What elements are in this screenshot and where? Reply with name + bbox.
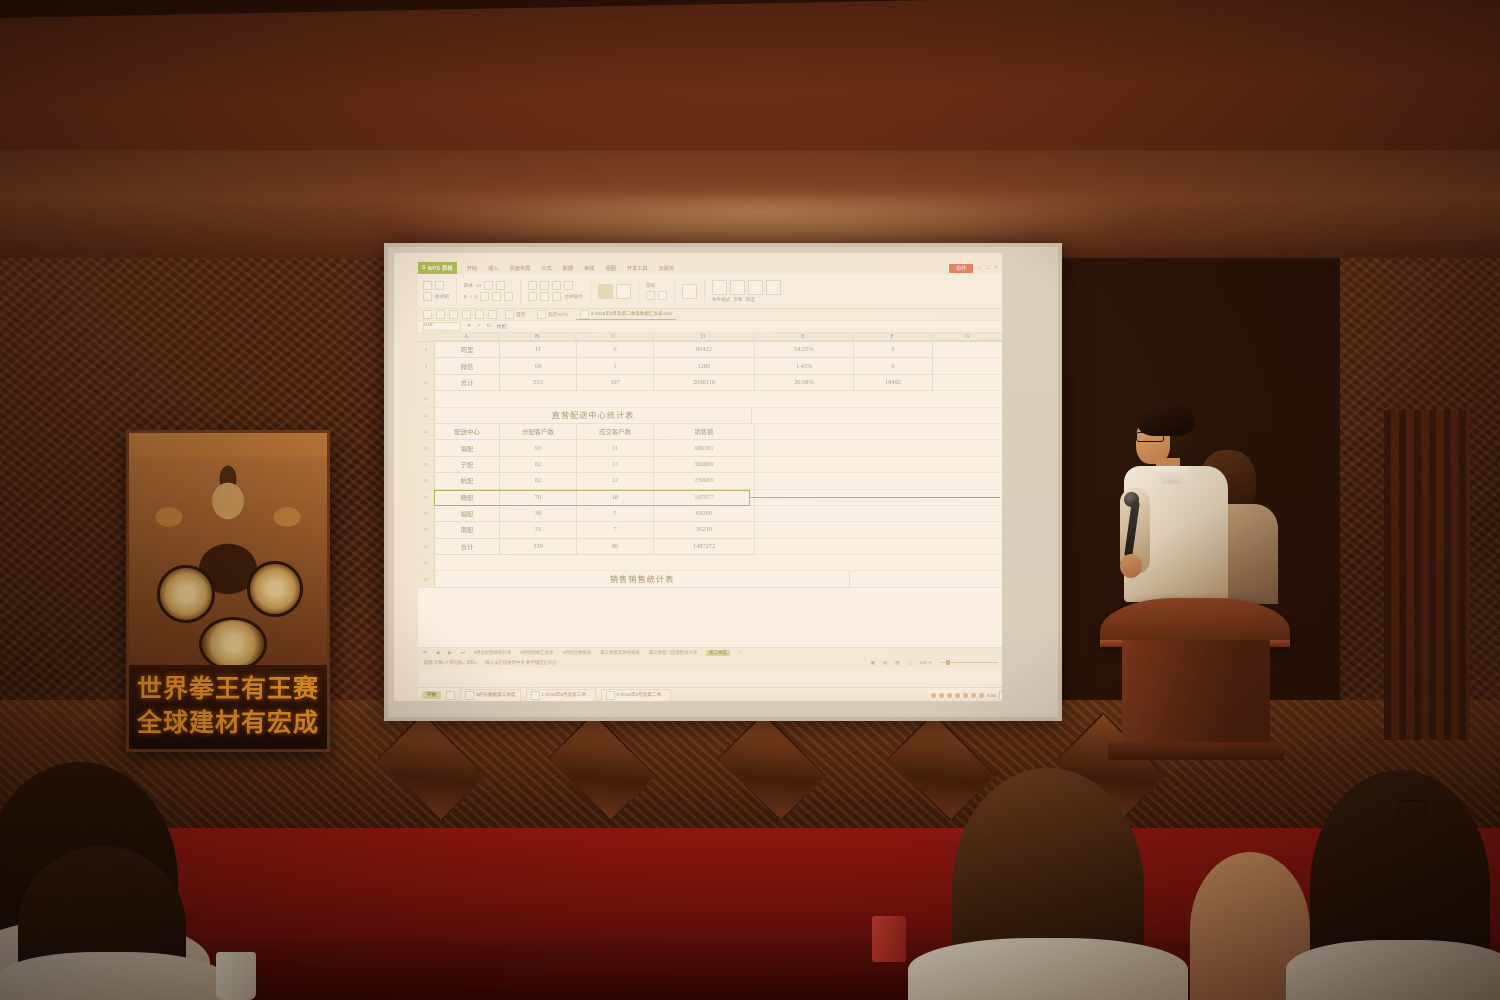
start-button[interactable]: 开始 xyxy=(422,691,441,699)
championship-belt-icon xyxy=(199,617,267,671)
table-cell[interactable]: 13 xyxy=(577,457,654,473)
empty-cell[interactable] xyxy=(499,555,575,571)
row-header[interactable]: 11 xyxy=(418,391,435,407)
selection-extension-line xyxy=(750,497,1000,498)
view-reading-icon[interactable]: ▢ xyxy=(907,660,911,666)
table-cell[interactable]: 宁配 xyxy=(435,457,500,473)
empty-cell[interactable] xyxy=(651,555,751,571)
zoom-slider[interactable] xyxy=(940,662,998,663)
presenter-hand xyxy=(1120,554,1142,578)
spreadsheet-grid[interactable]: 8阿里1168942254.55%09微信69112801.45%010总计53… xyxy=(418,342,1002,647)
ribbon-divider xyxy=(520,278,521,304)
show-desktop-icon[interactable] xyxy=(999,691,1002,700)
merge-center-button[interactable]: 合并居中 xyxy=(564,294,582,300)
column-header-a[interactable]: A xyxy=(434,333,499,341)
font-size-select[interactable]: 14 xyxy=(476,283,481,288)
window-titlebar: S WPS 表格 开始 插入 页面布局 公式 数据 审阅 视图 开发工具 云服务… xyxy=(418,262,1002,274)
empty-cell[interactable] xyxy=(853,457,931,473)
table-cell[interactable]: 107 xyxy=(577,375,654,391)
empty-cell[interactable] xyxy=(853,473,931,489)
table-row[interactable]: 22销售销售统计表 xyxy=(418,571,1002,587)
table-cell[interactable]: 39 xyxy=(500,506,577,522)
wps-logo: S WPS 表格 xyxy=(418,262,457,274)
table-cell[interactable]: 82 xyxy=(500,457,577,473)
empty-cell[interactable] xyxy=(575,555,651,571)
championship-belt-icon xyxy=(157,565,215,623)
tab-review[interactable]: 审阅 xyxy=(584,265,594,272)
projection-screen: S WPS 表格 开始 插入 页面布局 公式 数据 审阅 视图 开发工具 云服务… xyxy=(394,253,1002,701)
font-name-select[interactable]: 宋体 xyxy=(464,283,473,289)
align-bottom-icon[interactable] xyxy=(552,281,561,290)
taskbar-window-1-label: 1-2018年9月及第三季… xyxy=(542,692,591,698)
table-cell[interactable]: 总计 xyxy=(435,375,500,391)
font-color-icon[interactable] xyxy=(504,292,513,301)
battery-icon[interactable] xyxy=(963,693,968,698)
empty-cell[interactable] xyxy=(933,342,1002,358)
empty-cell[interactable] xyxy=(853,539,931,555)
ribbon-toolbar[interactable]: 格式刷 宋体 14 B I U xyxy=(418,274,1002,309)
table-cell[interactable]: 1487272 xyxy=(654,539,755,555)
table-cell[interactable]: 11 xyxy=(500,342,577,358)
save-icon[interactable] xyxy=(449,310,458,319)
table-cell[interactable]: 82 xyxy=(500,473,577,489)
system-tray[interactable]: 6:58 xyxy=(931,691,1002,700)
table-cell[interactable]: 配送中心 xyxy=(435,424,500,440)
empty-cell[interactable] xyxy=(751,391,849,407)
doc-tab-docer-label: 稻壳WPS xyxy=(548,312,568,318)
empty-cell[interactable] xyxy=(931,539,1002,555)
row-header[interactable]: 22 xyxy=(418,571,435,587)
sheet-tab-1[interactable]: 9月经销商汇总表 xyxy=(520,650,553,656)
podium-top xyxy=(1100,598,1290,646)
undo-icon[interactable] xyxy=(475,310,484,319)
border-icon[interactable] xyxy=(480,292,489,301)
row-header[interactable]: 13 xyxy=(418,424,435,440)
section-title-cell[interactable]: 直营配送中心统计表 xyxy=(435,408,752,424)
empty-cell[interactable] xyxy=(651,391,751,407)
table-row[interactable]: 10总计533107209811820.08%18492 xyxy=(418,375,1002,391)
table-cell[interactable]: 339 xyxy=(500,539,577,555)
ribbon-divider xyxy=(704,278,705,304)
status-ime-text: 输入法已切换到中文 数字键区已开启 xyxy=(485,660,556,666)
empty-cell[interactable] xyxy=(931,424,1002,440)
doc-tab-home-label: 首页 xyxy=(516,312,525,318)
sheet-nav-last-icon[interactable]: ⏭ xyxy=(461,650,465,655)
empty-cell[interactable] xyxy=(755,440,853,456)
empty-cell[interactable] xyxy=(853,440,931,456)
table-cell[interactable]: 7 xyxy=(577,522,654,538)
excel-file-icon xyxy=(580,310,589,319)
poster-headline-line2: 全球建材有宏成 xyxy=(129,703,327,739)
table-row[interactable]: 20合计339861487272 xyxy=(418,539,1002,555)
table-cell[interactable]: 230665 xyxy=(654,473,755,489)
table-cell[interactable]: 福配 xyxy=(435,440,500,456)
row-header[interactable]: 12 xyxy=(418,408,435,424)
italic-button[interactable]: I xyxy=(470,294,471,299)
table-cell[interactable]: 杭配 xyxy=(435,473,500,489)
table-row[interactable]: 16杭配8212230665 xyxy=(418,473,1002,489)
view-pagebreak-icon[interactable]: ▥ xyxy=(895,660,899,666)
taskbar-clock[interactable]: 6:58 xyxy=(987,693,996,698)
input-method-icon[interactable] xyxy=(971,693,976,698)
sheet-nav-prev-icon[interactable]: ◀ xyxy=(436,650,439,656)
empty-cell[interactable] xyxy=(933,375,1002,391)
table-cell[interactable]: 69 xyxy=(500,358,577,374)
tab-data[interactable]: 数据 xyxy=(563,265,573,272)
number-format-preview-icon[interactable] xyxy=(598,284,613,299)
empty-cell[interactable] xyxy=(755,522,853,538)
align-right-icon[interactable] xyxy=(552,292,561,301)
column-header-d[interactable]: D xyxy=(653,333,754,341)
table-cell[interactable]: 54.55% xyxy=(755,342,854,358)
autosum-label[interactable]: 求和 xyxy=(733,297,742,303)
glasses-icon xyxy=(1136,432,1164,442)
table-cell[interactable]: 93 xyxy=(500,440,577,456)
autosum-icon[interactable] xyxy=(730,280,745,295)
wps-logo-text: WPS 表格 xyxy=(428,264,453,272)
taskbar-window-0-label: 9月份数据第三季度 xyxy=(476,692,515,698)
print-icon[interactable] xyxy=(462,310,471,319)
table-row[interactable]: 14福配9331680381 xyxy=(418,440,1002,456)
column-header-g[interactable]: G xyxy=(932,333,1002,341)
sheet-tab-2[interactable]: 9月综合数据表 xyxy=(562,650,591,656)
empty-cell[interactable] xyxy=(933,358,1002,374)
ribbon-divider xyxy=(590,278,591,304)
table-cell[interactable]: 6 xyxy=(577,342,654,358)
align-top-icon[interactable] xyxy=(528,281,537,290)
table-cell[interactable]: 382869 xyxy=(654,457,755,473)
table-cell[interactable]: 680381 xyxy=(654,440,755,456)
home-icon xyxy=(505,310,514,319)
empty-cell[interactable] xyxy=(927,391,1002,407)
sheet-tab-0[interactable]: 9月总经销商统计表 xyxy=(474,650,512,656)
table-row[interactable]: 21 xyxy=(418,555,1002,571)
table-cell[interactable]: 0 xyxy=(854,342,933,358)
sheet-tab-active[interactable]: 第二季度 xyxy=(706,650,730,656)
table-cell[interactable]: 12 xyxy=(577,473,654,489)
empty-cell[interactable] xyxy=(435,391,499,407)
table-cell[interactable]: 0 xyxy=(854,358,933,374)
empty-cell[interactable] xyxy=(853,424,931,440)
audience-glasses-icon xyxy=(1398,800,1426,818)
freeze-panes-icon[interactable] xyxy=(712,280,727,295)
corner-select-all[interactable] xyxy=(418,333,434,341)
table-row[interactable]: 18福配39569269 xyxy=(418,506,1002,522)
empty-cell[interactable] xyxy=(755,424,853,440)
table-cell[interactable]: 销售额 xyxy=(654,424,755,440)
security-icon[interactable] xyxy=(931,693,936,698)
taskbar-window-1[interactable]: 1-2018年9月及第三季… xyxy=(526,689,596,702)
ribbon-divider xyxy=(456,278,457,304)
cell-format-icon[interactable] xyxy=(682,284,697,299)
column-header-f[interactable]: F xyxy=(853,333,932,341)
table-cell[interactable]: 成交客户数 xyxy=(577,424,654,440)
row-header[interactable]: 15 xyxy=(418,457,435,473)
taskbar-window-2-label: 2-2018年9月及第二季… xyxy=(617,692,666,698)
empty-cell[interactable] xyxy=(931,457,1002,473)
new-file-icon[interactable] xyxy=(423,310,432,319)
ribbon-group-styles[interactable]: 常规 xyxy=(646,283,667,300)
table-cell[interactable]: 合计 xyxy=(435,539,500,555)
row-header[interactable]: 19 xyxy=(418,522,435,538)
zoom-slider-knob[interactable] xyxy=(946,660,950,665)
poster-headline-line1: 世界拳王有王赛 xyxy=(129,669,327,705)
tab-start[interactable]: 开始 xyxy=(467,265,477,272)
empty-cell[interactable] xyxy=(755,457,853,473)
boxing-champion-poster: 世界拳王有王赛 全球建材有宏成 xyxy=(126,430,330,752)
table-cell[interactable]: 5 xyxy=(577,506,654,522)
doc-tab-active[interactable]: 2-2018年9月及第二季度数据汇总表.xlsx xyxy=(576,310,676,320)
table-cell[interactable]: 阿里 xyxy=(435,342,500,358)
excel-icon xyxy=(531,691,540,700)
ribbon-group-clipboard[interactable]: 格式刷 xyxy=(423,281,449,301)
audience-shoulders-left-front xyxy=(0,952,226,1000)
audience-shoulders-far-right xyxy=(1286,940,1500,1000)
table-cell[interactable]: 86 xyxy=(577,539,654,555)
column-header-e[interactable]: E xyxy=(754,333,853,341)
podium-body xyxy=(1122,640,1270,752)
table-row[interactable]: 8阿里1168942254.55%0 xyxy=(418,342,1002,358)
row-header[interactable]: 10 xyxy=(418,375,435,391)
empty-cell[interactable] xyxy=(931,522,1002,538)
empty-cell[interactable] xyxy=(853,522,931,538)
championship-belt-icon xyxy=(247,561,303,617)
sync-icon[interactable] xyxy=(979,693,984,698)
tab-insert[interactable]: 插入 xyxy=(488,265,498,272)
sheet-nav-first-icon[interactable]: ⏮ xyxy=(423,650,427,655)
empty-cell[interactable] xyxy=(850,571,1002,587)
status-bar: 就绪 计数=7 平均值= 求和= 输入法已切换到中文 数字键区已开启 ▦ ▤ ▥… xyxy=(418,657,1002,668)
cut-icon[interactable] xyxy=(423,281,432,290)
quicklaunch-icon[interactable] xyxy=(446,691,455,700)
table-cell[interactable]: 31 xyxy=(577,440,654,456)
empty-cell[interactable] xyxy=(927,555,1002,571)
audience-shoulders-center-right xyxy=(908,938,1188,1000)
table-cell[interactable]: 18492 xyxy=(854,375,933,391)
empty-cell[interactable] xyxy=(755,473,853,489)
sheet-tab-bar[interactable]: ⏮ ◀ ▶ ⏭ 9月总经销商统计表 9月经销商汇总表 9月综合数据表 第三季度实… xyxy=(418,647,1002,657)
empty-cell[interactable] xyxy=(755,539,853,555)
empty-cell[interactable] xyxy=(755,506,853,522)
doc-tab-docer[interactable]: 稻壳WPS xyxy=(533,310,572,319)
open-file-icon[interactable] xyxy=(436,310,445,319)
paper-cup xyxy=(216,952,256,1000)
empty-cell[interactable] xyxy=(575,391,651,407)
quick-access-and-doc-tabs[interactable]: 首页 稻壳WPS 2-2018年9月及第二季度数据汇总表.xlsx xyxy=(418,309,1002,321)
windows-taskbar[interactable]: 开始 9月份数据第三季度 1-2018年9月及第三季… 2-2018年9月及第二… xyxy=(418,687,1002,701)
bold-button[interactable]: B xyxy=(464,294,467,299)
row-header[interactable]: 9 xyxy=(418,358,435,374)
sheet-tab-3[interactable]: 第三季度实体终端表 xyxy=(600,650,640,656)
titlebar-right: 协作 − □ × xyxy=(949,264,1002,273)
ribbon-group-font[interactable]: 宋体 14 B I U xyxy=(464,281,514,301)
wps-logo-mark: S xyxy=(422,265,426,271)
filter-icon[interactable] xyxy=(748,280,763,295)
red-cup xyxy=(872,916,906,962)
conference-room-photo: 世界拳王有王赛 全球建材有宏成 S WPS 表格 开始 插入 页面布局 公式 数… xyxy=(0,0,1500,1000)
table-cell[interactable]: 89422 xyxy=(654,342,755,358)
ribbon-group-alignment[interactable]: 合并居中 xyxy=(528,281,582,301)
tab-view[interactable]: 视图 xyxy=(605,265,615,272)
align-middle-icon[interactable] xyxy=(540,281,549,290)
empty-cell[interactable] xyxy=(751,555,849,571)
doc-tab-active-label: 2-2018年9月及第二季度数据汇总表.xlsx xyxy=(591,311,672,317)
fill-color-icon[interactable] xyxy=(492,292,501,301)
redo-icon[interactable] xyxy=(488,310,497,319)
percent-style-icon[interactable] xyxy=(616,284,631,299)
filter-label[interactable]: 筛选 xyxy=(745,297,754,303)
ribbon-group-number[interactable] xyxy=(598,284,631,299)
ribbon-group-editing[interactable]: 条件格式求和筛选 xyxy=(712,280,781,303)
column-header-c[interactable]: C xyxy=(576,333,653,341)
network-icon[interactable] xyxy=(947,693,952,698)
empty-cell[interactable] xyxy=(499,391,575,407)
empty-cell[interactable] xyxy=(752,408,1002,424)
row-header[interactable]: 14 xyxy=(418,440,435,456)
table-cell[interactable]: 533 xyxy=(500,375,577,391)
table-row[interactable]: 9微信69112801.45%0 xyxy=(418,358,1002,374)
table-cell[interactable]: 33 xyxy=(500,522,577,538)
empty-cell[interactable] xyxy=(849,555,927,571)
table-row[interactable]: 11 xyxy=(418,391,1002,407)
add-sheet-icon[interactable]: + xyxy=(739,650,742,655)
shrink-font-icon[interactable] xyxy=(496,281,505,290)
taskbar-window-0[interactable]: 9月份数据第三季度 xyxy=(460,689,520,702)
curtain xyxy=(1384,410,1470,740)
table-row[interactable]: 15宁配8213382869 xyxy=(418,457,1002,473)
table-style-icon[interactable] xyxy=(658,291,667,300)
formula-input[interactable]: 杭配 xyxy=(497,323,507,330)
doc-tab-home[interactable]: 首页 xyxy=(501,310,529,319)
row-header[interactable]: 17 xyxy=(418,490,435,506)
excel-icon xyxy=(606,691,615,700)
insert-function-icon[interactable]: fx xyxy=(487,324,491,329)
tab-cloud[interactable]: 云服务 xyxy=(659,265,675,272)
table-cell[interactable]: 2098118 xyxy=(654,375,755,391)
sheet-tab-4[interactable]: 第三季度门店销售统计表 xyxy=(649,650,697,656)
sheet-nav-next-icon[interactable]: ▶ xyxy=(448,650,451,656)
align-left-icon[interactable] xyxy=(528,292,537,301)
copy-icon[interactable] xyxy=(435,281,444,290)
column-header-b[interactable]: B xyxy=(499,333,576,341)
row-header[interactable]: 20 xyxy=(418,539,435,555)
podium-base xyxy=(1108,742,1284,760)
presenter-hair xyxy=(1138,402,1194,436)
empty-cell[interactable] xyxy=(435,555,499,571)
number-format-select[interactable]: 常规 xyxy=(646,283,655,289)
table-row[interactable]: 13配送中心分配客户数成交客户数销售额 xyxy=(418,424,1002,440)
table-row[interactable]: 19南配33736210 xyxy=(418,522,1002,538)
row-column-label[interactable]: 条件格式 xyxy=(712,297,730,303)
status-left-text: 就绪 计数=7 平均值= 求和= xyxy=(424,660,477,666)
empty-cell[interactable] xyxy=(931,473,1002,489)
underline-button[interactable]: U xyxy=(474,294,477,299)
active-cell-selection[interactable] xyxy=(434,490,750,506)
name-box[interactable]: A18 xyxy=(423,322,461,331)
conditional-format-icon[interactable] xyxy=(646,291,655,300)
row-header[interactable]: 8 xyxy=(418,342,435,358)
tab-formula[interactable]: 公式 xyxy=(541,265,551,272)
table-cell[interactable]: 分配客户数 xyxy=(500,424,577,440)
row-header[interactable]: 21 xyxy=(418,555,435,571)
formula-bar[interactable]: A18 ✕ ✓ fx 杭配 xyxy=(418,321,1002,333)
table-cell[interactable]: 20.08% xyxy=(755,375,854,391)
column-header-row[interactable]: A B C D E F G xyxy=(418,333,1002,342)
row-header[interactable]: 18 xyxy=(418,506,435,522)
table-cell[interactable]: 1 xyxy=(577,358,654,374)
table-row[interactable]: 12直营配送中心统计表 xyxy=(418,408,1002,424)
cancel-edit-icon[interactable]: ✕ xyxy=(467,324,471,329)
empty-cell[interactable] xyxy=(931,506,1002,522)
confirm-edit-icon[interactable]: ✓ xyxy=(477,324,481,329)
volume-icon[interactable] xyxy=(955,693,960,698)
tab-page-layout[interactable]: 页面布局 xyxy=(510,265,531,272)
tab-developer[interactable]: 开发工具 xyxy=(627,265,648,272)
ribbon-divider xyxy=(674,278,675,304)
docer-icon xyxy=(537,310,546,319)
share-button[interactable]: 协作 xyxy=(949,264,973,273)
table-cell[interactable]: 福配 xyxy=(435,506,500,522)
table-cell[interactable]: 36210 xyxy=(654,522,755,538)
wps-spreadsheet-window: S WPS 表格 开始 插入 页面布局 公式 数据 审阅 视图 开发工具 云服务… xyxy=(418,262,1002,701)
table-cell[interactable]: 1.45% xyxy=(755,358,854,374)
window-controls[interactable]: − □ × xyxy=(977,265,1000,271)
empty-cell[interactable] xyxy=(931,440,1002,456)
table-cell[interactable]: 1280 xyxy=(654,358,755,374)
wrap-text-icon[interactable] xyxy=(564,281,573,290)
ribbon-group-cells[interactable] xyxy=(682,284,697,299)
section-title-cell[interactable]: 销售销售统计表 xyxy=(435,571,850,587)
empty-cell[interactable] xyxy=(853,506,931,522)
view-pagelayout-icon[interactable]: ▤ xyxy=(883,660,887,666)
paste-icon[interactable] xyxy=(423,292,432,301)
ribbon-tab-strip[interactable]: 开始 插入 页面布局 公式 数据 审阅 视图 开发工具 云服务 xyxy=(457,265,674,272)
folder-icon xyxy=(465,691,474,700)
table-cell[interactable]: 南配 xyxy=(435,522,500,538)
poster-figure xyxy=(129,457,327,669)
table-cell[interactable]: 微信 xyxy=(435,358,500,374)
ribbon-divider xyxy=(638,278,639,304)
empty-cell[interactable] xyxy=(849,391,927,407)
cloud-icon[interactable] xyxy=(939,693,944,698)
table-cell[interactable]: 69269 xyxy=(654,506,755,522)
row-header[interactable]: 16 xyxy=(418,473,435,489)
sort-icon[interactable] xyxy=(766,280,781,295)
format-painter-label[interactable]: 格式刷 xyxy=(435,294,449,300)
align-center-icon[interactable] xyxy=(540,292,549,301)
grow-font-icon[interactable] xyxy=(484,281,493,290)
view-normal-icon[interactable]: ▦ xyxy=(871,660,875,666)
zoom-level-label[interactable]: 100 % xyxy=(920,660,932,665)
taskbar-window-2[interactable]: 2-2018年9月及第二季… xyxy=(601,689,671,702)
